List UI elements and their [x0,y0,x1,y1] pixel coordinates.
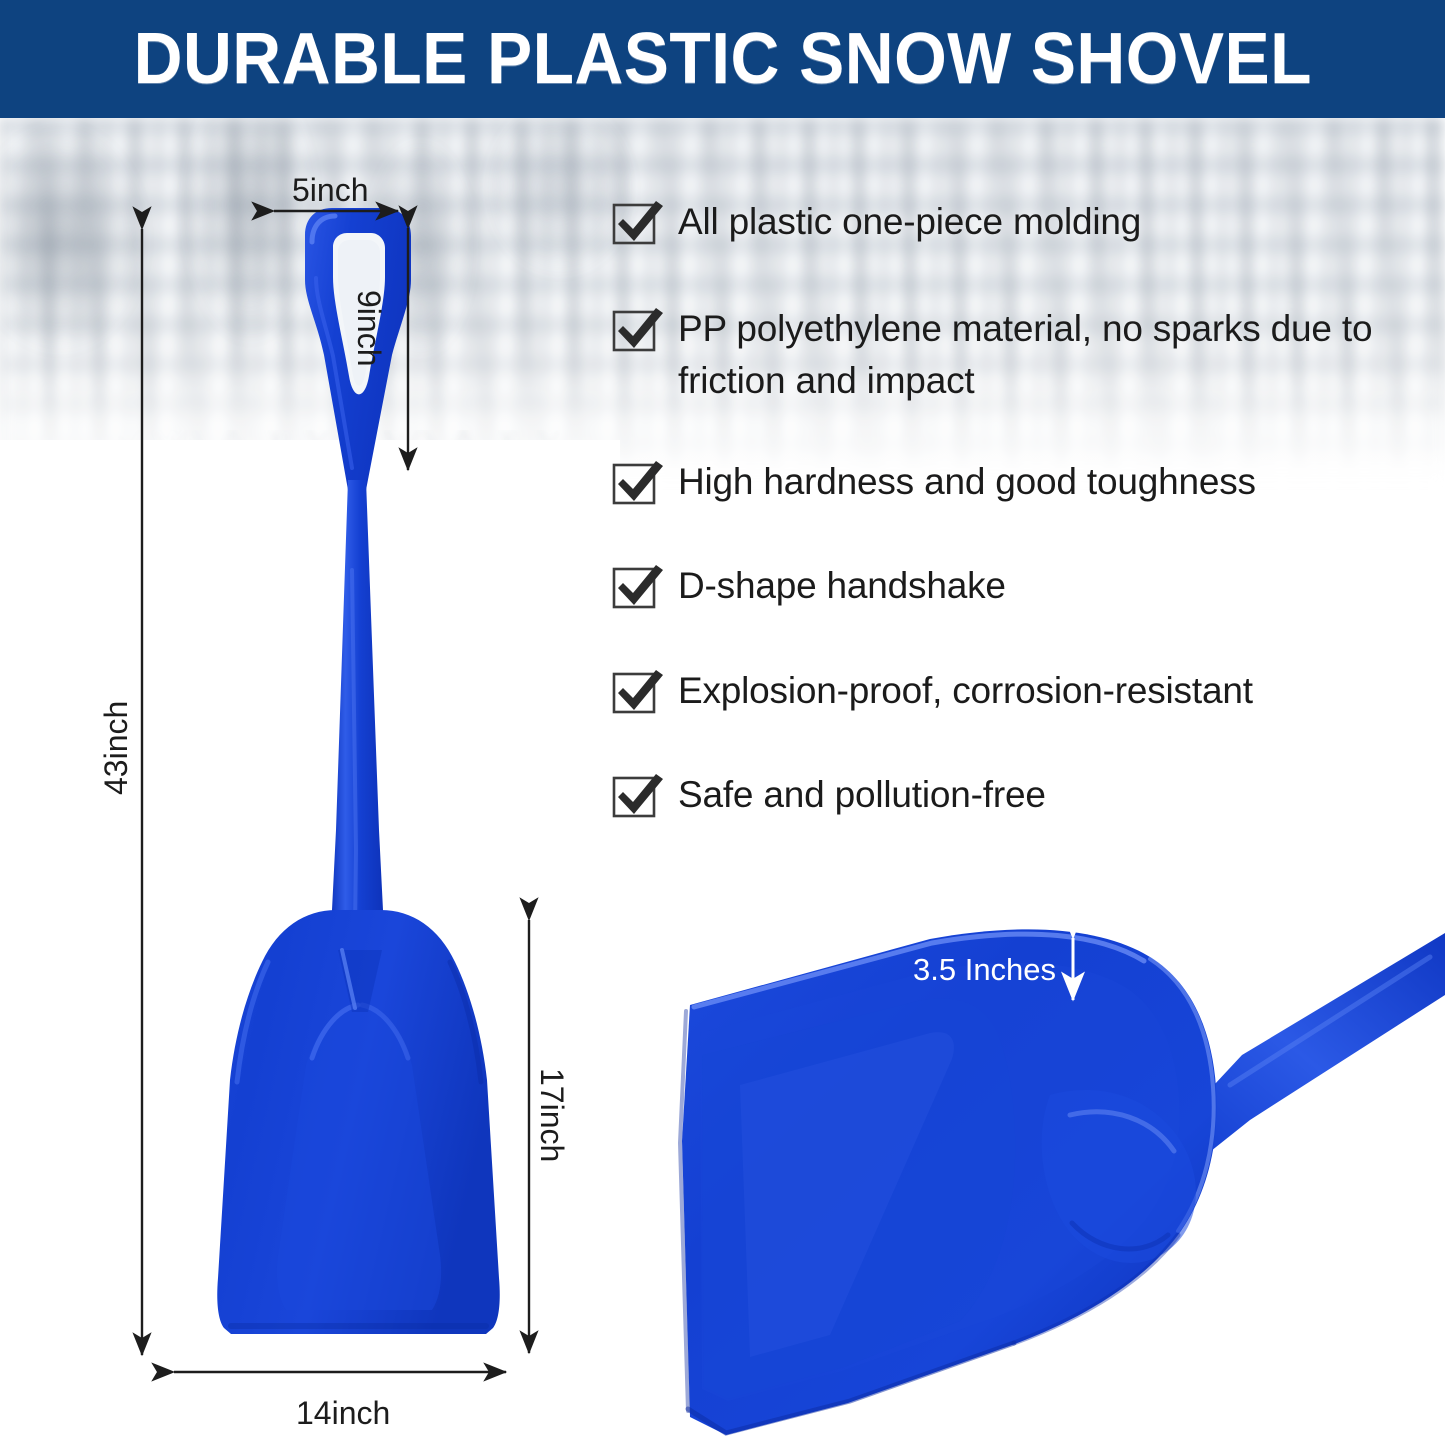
dimension-label-total-length: 43inch [98,701,135,795]
dimension-label-handle-width: 5inch [292,172,369,209]
dimension-label-blade-width: 14inch [296,1395,390,1432]
dimension-label-handle-height: 9inch [350,290,387,367]
dimension-lines-layer [0,0,1445,1445]
product-infographic: DURABLE PLASTIC SNOW SHOVEL [0,0,1445,1445]
dimension-label-blade-depth: 3.5 Inches [913,952,1056,988]
dimension-label-blade-height: 17inch [533,1068,570,1162]
